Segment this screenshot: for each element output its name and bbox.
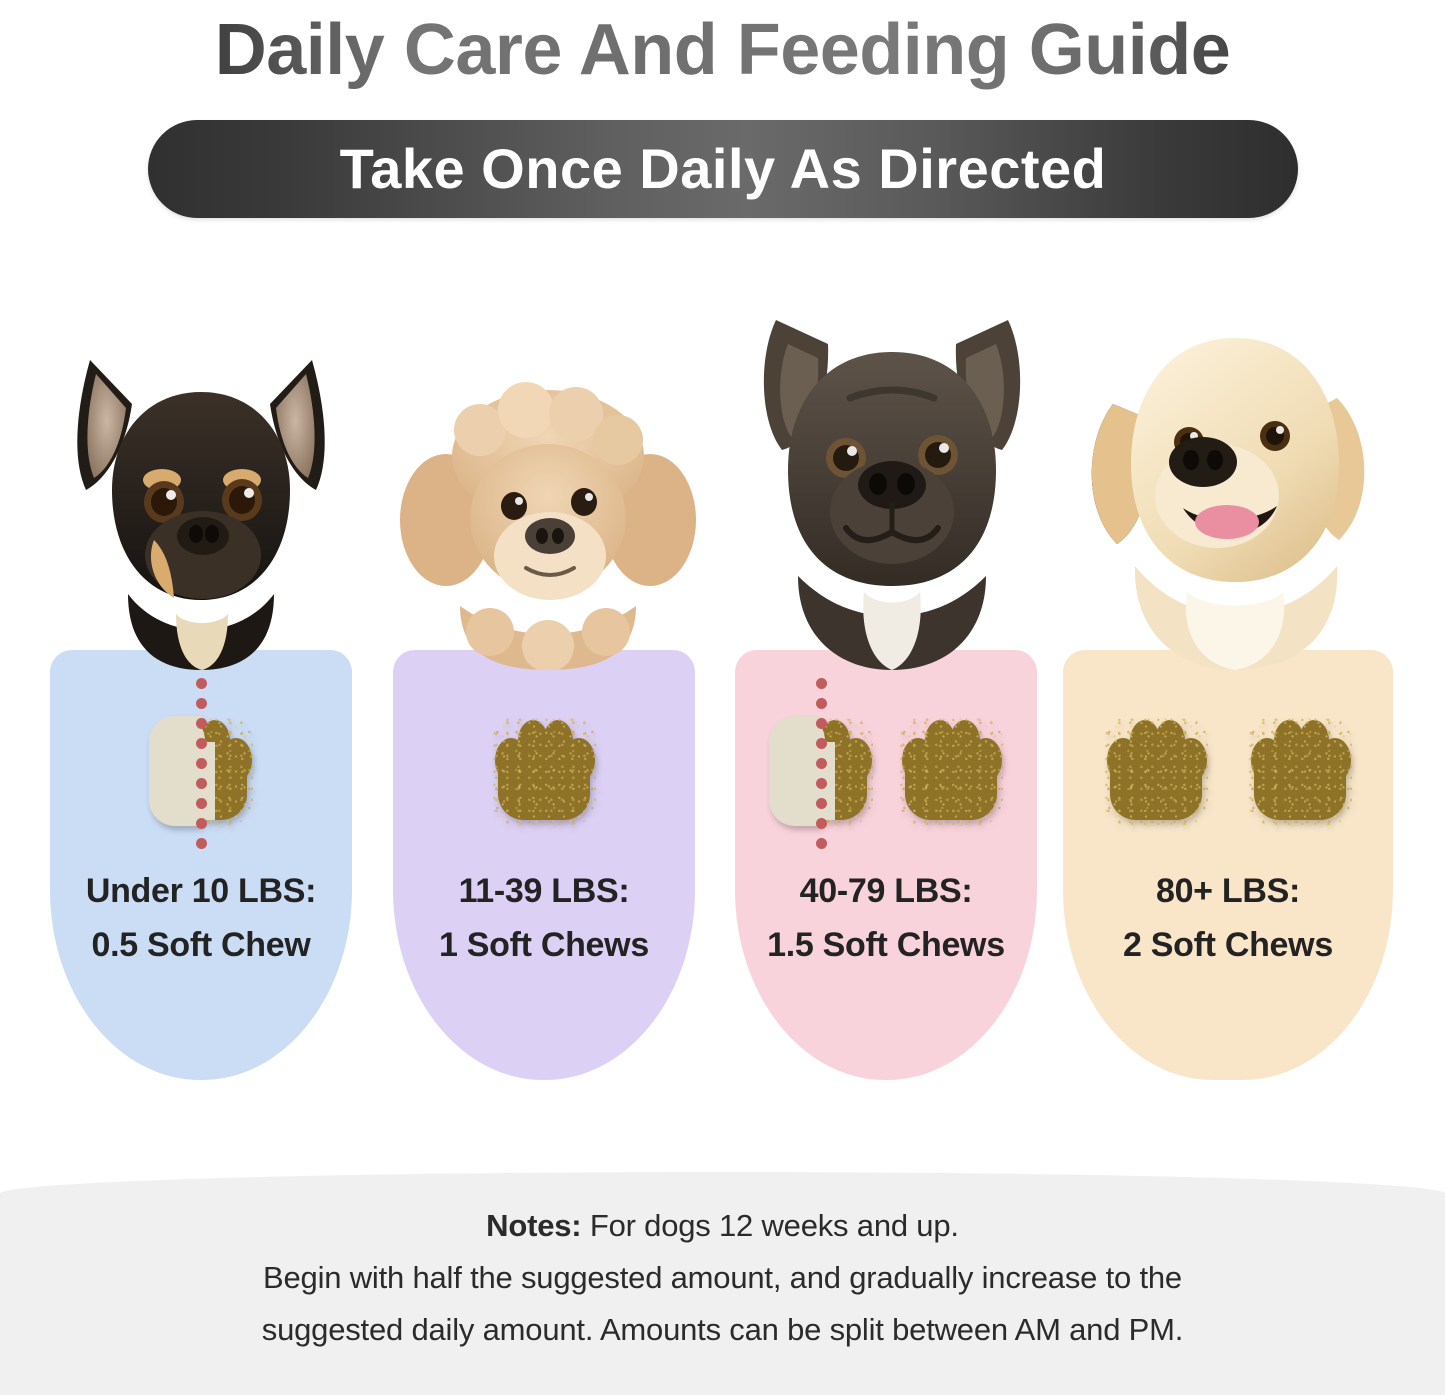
soft-chew-whole	[492, 716, 596, 826]
dosage-card-40-79-lbs[interactable]: 40-79 LBS: 1.5 Soft Chews	[735, 650, 1037, 1080]
dog-photo-french-bulldog	[742, 300, 1042, 670]
notes-line-2: Begin with half the suggested amount, an…	[0, 1252, 1445, 1304]
soft-chew-light-half	[149, 716, 201, 826]
chew-illustration-group	[735, 696, 1037, 846]
dose-amount-label: 1.5 Soft Chews	[735, 918, 1037, 972]
dosage-card-11-39-lbs[interactable]: 11-39 LBS: 1 Soft Chews	[393, 650, 695, 1080]
chew-illustration-group	[50, 696, 352, 846]
dosage-card-label: 40-79 LBS: 1.5 Soft Chews	[735, 864, 1037, 972]
header: Daily Care And Feeding Guide Take Once D…	[0, 0, 1445, 240]
dosage-card-under-10-lbs[interactable]: Under 10 LBS: 0.5 Soft Chew	[50, 650, 352, 1080]
dose-amount-label: 0.5 Soft Chew	[50, 918, 352, 972]
poodle-illustration	[398, 370, 698, 670]
notes-line-1-text: For dogs 12 weeks and up.	[581, 1208, 958, 1243]
dog-photo-golden-retriever	[1075, 300, 1395, 670]
dosage-card-label: Under 10 LBS: 0.5 Soft Chew	[50, 864, 352, 972]
soft-chew-light-half	[769, 716, 821, 826]
soft-chew-whole	[1104, 716, 1208, 826]
golden-retriever-illustration	[1075, 300, 1395, 670]
notes-line-1: Notes: For dogs 12 weeks and up.	[0, 1200, 1445, 1252]
dosage-cards: Under 10 LBS: 0.5 Soft Chew 11-39 LBS: 1…	[0, 240, 1445, 1170]
weight-range-label: Under 10 LBS:	[86, 872, 316, 910]
page-title: Daily Care And Feeding Guide	[0, 8, 1445, 92]
chew-illustration-group	[393, 696, 695, 846]
directions-banner-label: Take Once Daily As Directed	[340, 139, 1107, 199]
dose-amount-label: 1 Soft Chews	[393, 918, 695, 972]
chew-split-dotted-line	[196, 678, 207, 864]
weight-range-label: 11-39 LBS:	[459, 872, 630, 910]
notes-line-3: suggested daily amount. Amounts can be s…	[0, 1304, 1445, 1356]
chew-illustration-group	[1063, 696, 1393, 846]
soft-chew-whole	[899, 716, 1003, 826]
notes-footer: Notes: For dogs 12 weeks and up. Begin w…	[0, 1172, 1445, 1395]
dosage-card-label: 11-39 LBS: 1 Soft Chews	[393, 864, 695, 972]
notes-text: Notes: For dogs 12 weeks and up. Begin w…	[0, 1200, 1445, 1356]
dosage-card-80-plus-lbs[interactable]: 80+ LBS: 2 Soft Chews	[1063, 650, 1393, 1080]
soft-chew-whole	[1248, 716, 1352, 826]
dog-photo-poodle	[398, 370, 698, 670]
french-bulldog-illustration	[742, 300, 1042, 670]
chihuahua-illustration	[50, 350, 352, 670]
chew-split-dotted-line	[816, 678, 827, 864]
notes-label: Notes:	[486, 1208, 581, 1243]
dog-photo-chihuahua	[50, 350, 352, 670]
dosage-card-label: 80+ LBS: 2 Soft Chews	[1063, 864, 1393, 972]
dose-amount-label: 2 Soft Chews	[1063, 918, 1393, 972]
weight-range-label: 80+ LBS:	[1156, 872, 1300, 910]
weight-range-label: 40-79 LBS:	[800, 872, 973, 910]
directions-banner: Take Once Daily As Directed	[148, 120, 1298, 218]
